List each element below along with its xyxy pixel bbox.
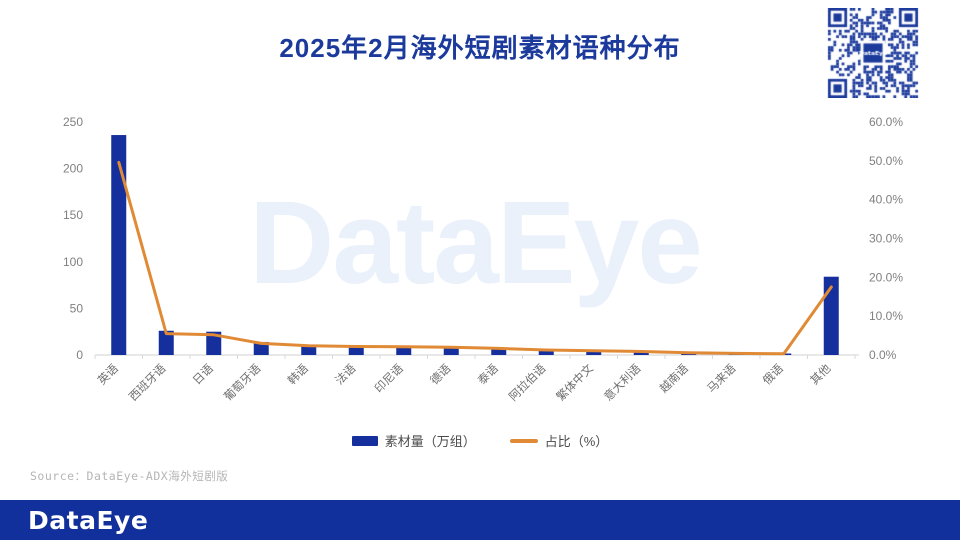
y2-axis-tick-label: 30.0% <box>869 232 903 246</box>
legend-label-line: 占比（%） <box>545 431 609 450</box>
x-axis-category-label: 法语 <box>332 361 359 388</box>
x-axis-category-label: 泰语 <box>475 361 502 388</box>
y2-axis-tick-label: 50.0% <box>869 154 903 168</box>
footer-bar: DataEye <box>0 500 960 540</box>
legend-label-bar: 素材量（万组） <box>385 431 476 450</box>
y-axis-tick-label: 0 <box>76 348 83 362</box>
x-axis-category-label: 印尼语 <box>372 362 406 396</box>
y2-axis-tick-label: 10.0% <box>869 309 903 323</box>
y-axis-tick-label: 200 <box>63 162 83 176</box>
x-axis-category-label: 德语 <box>427 361 454 388</box>
chart-legend: 素材量（万组） 占比（%） <box>0 431 960 450</box>
y-axis-tick-label: 250 <box>63 115 83 129</box>
x-axis-category-label: 越南语 <box>657 361 692 396</box>
x-axis-category-label: 日语 <box>190 362 216 388</box>
x-axis-category-label: 马来语 <box>705 362 739 396</box>
bar[interactable] <box>111 135 126 355</box>
x-axis-category-label: 阿拉伯语 <box>506 361 549 404</box>
y2-axis-tick-label: 0.0% <box>869 348 897 362</box>
x-axis-category-label: 其他 <box>808 362 834 388</box>
x-axis-category-label: 西班牙语 <box>127 362 169 404</box>
x-axis-category-label: 俄语 <box>760 362 786 388</box>
x-axis-category-label: 意大利语 <box>601 361 644 404</box>
y-axis-tick-label: 100 <box>63 255 83 269</box>
y-axis-tick-label: 150 <box>63 208 83 222</box>
x-axis-category-label: 繁体中文 <box>553 361 596 404</box>
legend-item-line[interactable]: 占比（%） <box>510 431 609 450</box>
legend-line-swatch-icon <box>510 439 538 443</box>
line-series-path[interactable] <box>119 162 832 353</box>
chart-svg: 0501001502002500.0%10.0%20.0%30.0%40.0%5… <box>0 0 960 470</box>
y2-axis-tick-label: 40.0% <box>869 193 903 207</box>
legend-bar-swatch-icon <box>352 436 378 446</box>
footer-logo: DataEye <box>28 506 148 535</box>
x-axis-category-label: 韩语 <box>285 361 312 388</box>
x-axis-category-label: 英语 <box>95 361 122 388</box>
y2-axis-tick-label: 60.0% <box>869 115 903 129</box>
y2-axis-tick-label: 20.0% <box>869 270 903 284</box>
chart-plot-area: 0501001502002500.0%10.0%20.0%30.0%40.0%5… <box>0 0 960 470</box>
y-axis-tick-label: 50 <box>70 301 84 315</box>
x-axis-category-label: 葡萄牙语 <box>222 362 264 404</box>
legend-item-bar[interactable]: 素材量（万组） <box>352 431 476 450</box>
source-caption: Source：DataEye-ADX海外短剧版 <box>30 468 228 484</box>
